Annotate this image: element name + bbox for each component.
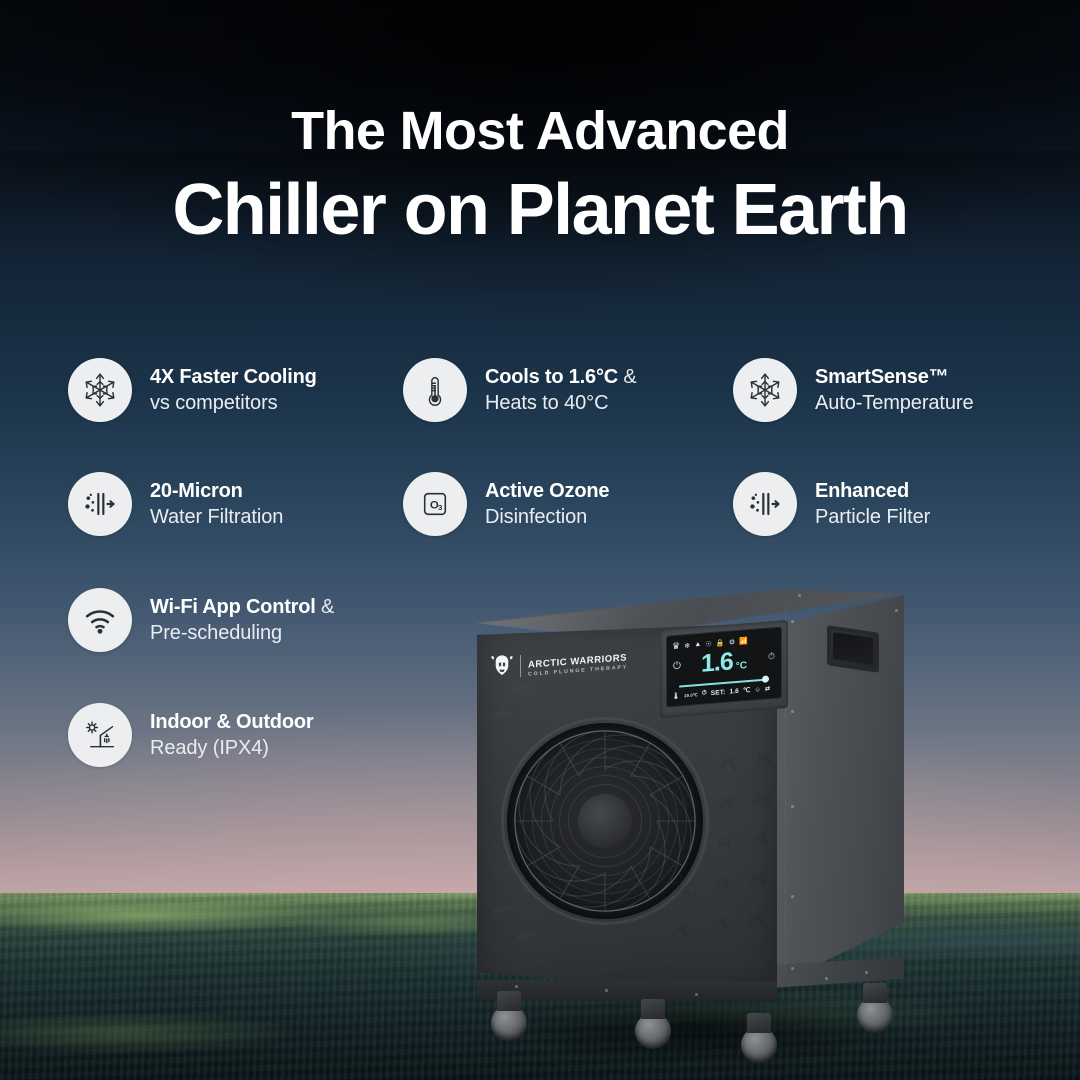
caster-wheel-front-right — [741, 1027, 777, 1063]
snowflake-icon — [733, 358, 797, 422]
feature-title: Indoor & Outdoor — [150, 709, 313, 735]
feature-text: Wi-Fi App Control & Pre-scheduling — [150, 594, 334, 647]
bolt — [791, 895, 794, 898]
caster-fork — [747, 1013, 771, 1033]
feature-title: Cools to 1.6°C & — [485, 364, 637, 390]
caster-fork — [497, 991, 521, 1011]
feature-item-20-micron: 20-Micron Water Filtration — [68, 472, 283, 536]
feature-title: Enhanced — [815, 478, 930, 504]
clock-icon[interactable]: ⏱ — [702, 689, 707, 697]
caster-wheel-front-mid — [635, 1013, 671, 1049]
mode-label: 19.0℃ — [684, 692, 698, 698]
thermometer-icon — [403, 358, 467, 422]
indoor-outdoor-icon — [68, 703, 132, 767]
setpoint-value: 1.6 — [729, 687, 738, 695]
product-chiller-unit: ARCTIC WARRIORS COLD PLUNGE THERAPY ♛ ❄ … — [455, 565, 925, 1065]
feature-text: Active Ozone Disinfection — [485, 478, 609, 531]
feature-title: SmartSense™ — [815, 364, 973, 390]
fan-icon: ☉ — [705, 639, 711, 648]
caster-fork — [863, 983, 887, 1003]
feature-subtitle: Water Filtration — [150, 504, 283, 530]
ozone-o3-icon: O 3 — [403, 472, 467, 536]
fan-hub — [578, 794, 632, 848]
feature-text: Enhanced Particle Filter — [815, 478, 930, 531]
temperature-unit: °C — [736, 661, 747, 672]
feature-item-indoor-outdoor: Indoor & Outdoor Ready (IPX4) — [68, 703, 313, 767]
feature-subtitle: Particle Filter — [815, 504, 930, 530]
headline-block: The Most Advanced Chiller on Planet Eart… — [0, 104, 1080, 249]
bolt — [791, 710, 794, 713]
feature-subtitle: Ready (IPX4) — [150, 735, 313, 761]
snowflake-icon: ❄ — [684, 641, 690, 649]
bolt — [865, 971, 868, 974]
filter-arrow-icon — [733, 472, 797, 536]
brand-logo: ARCTIC WARRIORS COLD PLUNGE THERAPY — [491, 649, 653, 683]
bolt — [825, 977, 828, 980]
headline-line-1: The Most Advanced — [0, 104, 1080, 159]
feature-text: 20-Micron Water Filtration — [150, 478, 283, 531]
vent-pattern — [670, 747, 775, 943]
feature-text: SmartSense™ Auto-Temperature — [815, 364, 973, 417]
wifi-icon: 📶 — [739, 637, 748, 646]
poster-canvas: The Most Advanced Chiller on Planet Eart… — [0, 0, 1080, 1080]
feature-item-4x-faster-cooling: 4X Faster Cooling vs competitors — [68, 358, 317, 422]
brand-wordmark: ARCTIC WARRIORS COLD PLUNGE THERAPY — [528, 653, 628, 678]
snowflake-icon — [68, 358, 132, 422]
smiley-icon[interactable]: ☺ — [754, 686, 760, 694]
feature-text: Indoor & Outdoor Ready (IPX4) — [150, 709, 313, 762]
viking-helmet-icon: ♛ — [672, 642, 680, 652]
feature-title: 4X Faster Cooling — [150, 364, 317, 390]
heat-icon: ▲ — [694, 641, 701, 649]
feature-title: Active Ozone — [485, 478, 609, 504]
caster-wheel-front-left — [491, 1005, 527, 1041]
control-display-screen[interactable]: ♛ ❄ ▲ ☉ 🔒 ⚙ 📶 ⏻ ⏱ 1.6 °C 🌡 19.0℃ — [666, 626, 782, 707]
feature-item-wifi-app-control: Wi-Fi App Control & Pre-scheduling — [68, 588, 334, 652]
wifi-icon — [68, 588, 132, 652]
feature-title: Wi-Fi App Control & — [150, 594, 334, 620]
swap-icon[interactable]: ⇄ — [765, 685, 770, 692]
feature-title: 20-Micron — [150, 478, 283, 504]
feature-subtitle: Auto-Temperature — [815, 390, 973, 416]
lock-icon[interactable]: 🔒 — [716, 638, 725, 647]
bolt — [515, 985, 518, 988]
gear-icon[interactable]: ⚙ — [729, 638, 735, 647]
bolt — [605, 989, 608, 992]
caster-wheel-rear-right — [857, 997, 893, 1033]
feature-item-smartsense: SmartSense™ Auto-Temperature — [733, 358, 973, 422]
bolt — [695, 993, 698, 996]
bolt — [791, 967, 794, 970]
feature-subtitle: Pre-scheduling — [150, 620, 334, 646]
filter-arrow-icon — [68, 472, 132, 536]
headline-line-2: Chiller on Planet Earth — [0, 173, 1080, 249]
setpoint-label: SET: — [711, 688, 726, 696]
logo-divider — [520, 655, 521, 677]
feature-item-active-ozone: O 3 Active Ozone Disinfection — [403, 472, 609, 536]
bolt — [791, 805, 794, 808]
feature-subtitle: Heats to 40°C — [485, 390, 637, 416]
svg-text:3: 3 — [438, 503, 442, 512]
setpoint-unit: ℃ — [743, 686, 751, 695]
side-handle-recess — [833, 632, 873, 665]
side-seam — [785, 605, 786, 975]
bolt — [895, 609, 898, 612]
viking-helmet-icon — [491, 653, 513, 679]
feature-subtitle: vs competitors — [150, 390, 317, 416]
feature-subtitle: Disinfection — [485, 504, 609, 530]
bolt — [791, 620, 794, 623]
thermometer-icon: 🌡 — [672, 692, 680, 701]
feature-text: Cools to 1.6°C & Heats to 40°C — [485, 364, 637, 417]
feature-item-cools-to-1-6c: Cools to 1.6°C & Heats to 40°C — [403, 358, 637, 422]
caster-fork — [641, 999, 665, 1019]
temperature-value: 1.6 — [701, 649, 733, 677]
unit-front-base — [477, 980, 777, 1006]
feature-text: 4X Faster Cooling vs competitors — [150, 364, 317, 417]
bolt — [798, 594, 801, 597]
feature-item-enhanced-particle-filter: Enhanced Particle Filter — [733, 472, 930, 536]
